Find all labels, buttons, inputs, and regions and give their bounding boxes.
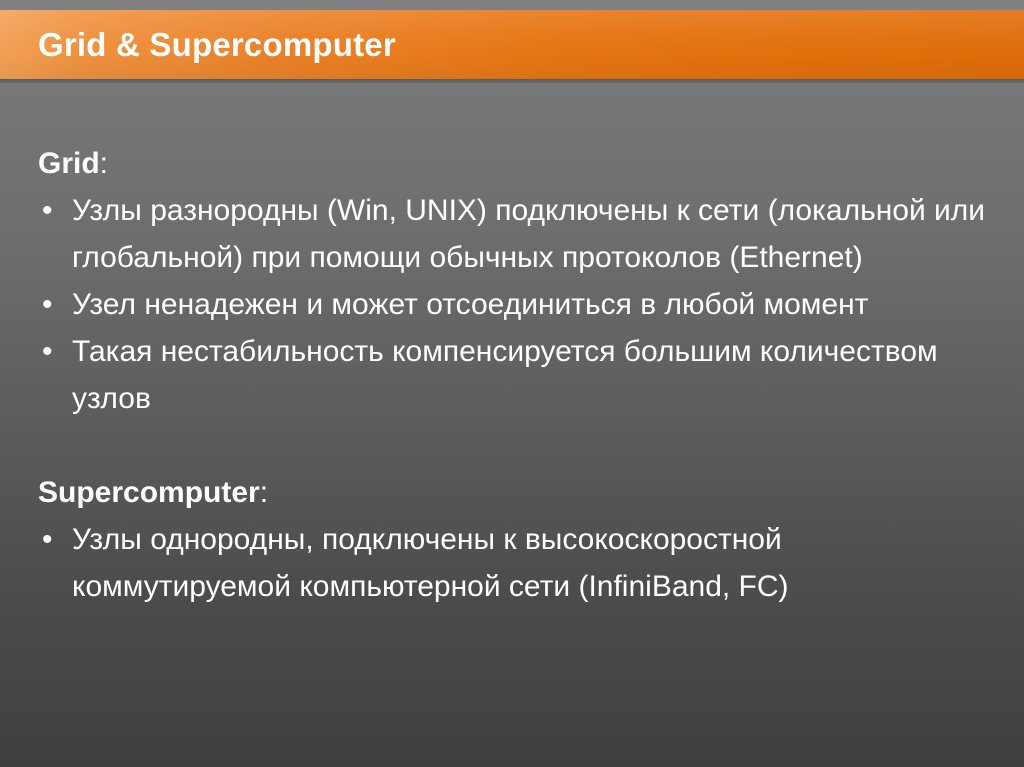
section-heading-supercomputer: Supercomputer:: [38, 469, 1008, 516]
section-heading-grid: Grid:: [38, 140, 1008, 187]
top-strip: [0, 0, 1024, 10]
bullet-point-icon: •: [42, 516, 56, 563]
list-item-text: Узлы однородны, подключены к высокоскоро…: [72, 516, 1008, 610]
section-spacer: [38, 422, 1008, 469]
list-item-text: Такая нестабильность компенсируется боль…: [72, 328, 1008, 422]
bullet-point-icon: •: [42, 187, 56, 234]
bullet-list-grid: • Узлы разнородны (Win, UNIX) подключены…: [38, 187, 1008, 422]
banner-divider: [0, 79, 1024, 83]
bullet-list-supercomputer: • Узлы однородны, подключены к высокоско…: [38, 516, 1008, 610]
slide-title-banner: Grid & Supercomputer: [0, 10, 1024, 79]
list-item-text: Узлы разнородны (Win, UNIX) подключены к…: [72, 187, 1008, 281]
bullet-point-icon: •: [42, 328, 56, 375]
section-heading-supercomputer-label: Supercomputer: [38, 476, 260, 509]
bullet-point-icon: •: [42, 281, 56, 328]
section-heading-grid-colon: :: [100, 147, 108, 180]
list-item: • Узлы однородны, подключены к высокоско…: [38, 516, 1008, 610]
list-item-text: Узел ненадежен и может отсоединиться в л…: [72, 281, 1008, 328]
page-title: Grid & Supercomputer: [38, 28, 396, 61]
list-item: • Такая нестабильность компенсируется бо…: [38, 328, 1008, 422]
section-heading-supercomputer-colon: :: [260, 476, 268, 509]
slide-body: Grid: • Узлы разнородны (Win, UNIX) подк…: [0, 140, 1024, 610]
presentation-slide: Grid & Supercomputer Grid: • Узлы разнор…: [0, 0, 1024, 767]
list-item: • Узел ненадежен и может отсоединиться в…: [38, 281, 1008, 328]
list-item: • Узлы разнородны (Win, UNIX) подключены…: [38, 187, 1008, 281]
section-heading-grid-label: Grid: [38, 147, 100, 180]
